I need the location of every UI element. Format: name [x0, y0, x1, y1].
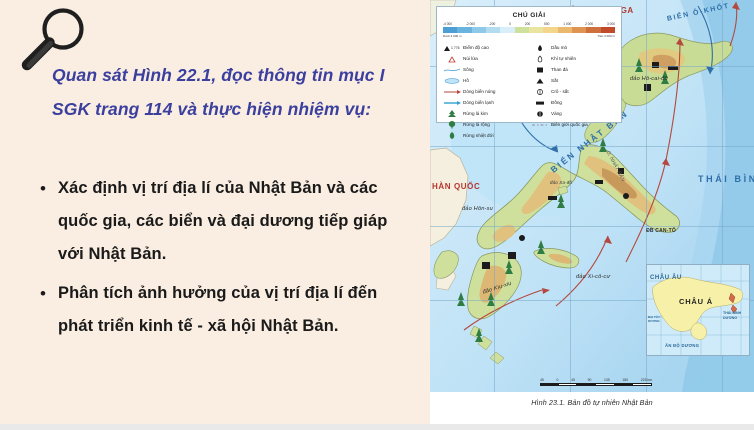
legend-item: Đồng [529, 97, 617, 108]
elev-tick: 2 000 [585, 22, 593, 26]
legend-item: Crô - sắt [529, 86, 617, 97]
elev-tick: -200 [489, 22, 495, 26]
bullet-text: Xác định vị trí địa lí của Nhật Bản và c… [58, 172, 410, 271]
river-icon [441, 66, 463, 74]
intro-paragraph: Quan sát Hình 22.1, đọc thông tin mục I … [52, 58, 412, 126]
scale-tick: 225 km [641, 378, 652, 382]
japan-physical-map: LIÊN BANG NGA HÀN QUỐC BIỂN NHẬT BẢN BIỂ… [430, 0, 754, 392]
legend-columns: 1 776 Điểm độ cao Núi lửa [441, 42, 617, 141]
inset-label-atlantic: ĐẠI TÂY DƯƠNG [648, 315, 662, 323]
left-text-panel: Quan sát Hình 22.1, đọc thông tin mục I … [0, 0, 430, 424]
broadleaf-forest-icon [441, 120, 463, 129]
legend-item: Núi lửa [441, 53, 529, 64]
legend-column-left: 1 776 Điểm độ cao Núi lửa [441, 42, 529, 141]
scale-left-note: Dưới 4 000 m [443, 34, 461, 38]
legend-label: Crô - sắt [551, 89, 569, 94]
legend-label: Khí tự nhiên [551, 56, 576, 61]
svg-text:1 776: 1 776 [451, 46, 460, 50]
legend-label: Sông [463, 67, 474, 72]
inset-label-indian: ẤN ĐỘ DƯƠNG [665, 343, 699, 348]
legend-item: 1 776 Điểm độ cao [441, 42, 529, 53]
legend-item: Hồ [441, 75, 529, 86]
legend-label: Dòng biển nóng [463, 89, 495, 94]
scale-tick: 0 [556, 378, 558, 382]
border-icon [529, 121, 551, 129]
elev-tick: 200 [525, 22, 530, 26]
legend-item: Dầu mỏ [529, 42, 617, 53]
bullet-marker: • [40, 172, 58, 271]
graticule-line [430, 146, 754, 147]
oil-icon [529, 44, 551, 52]
slide-root: Quan sát Hình 22.1, đọc thông tin mục I … [0, 0, 754, 430]
legend-item: Dòng biển lạnh [441, 97, 529, 108]
scale-tick: 180 [622, 378, 628, 382]
legend-label: Điểm độ cao [463, 45, 489, 50]
legend-label: Biên giới quốc gia [551, 122, 588, 127]
gas-icon [529, 55, 551, 63]
iron-icon [529, 77, 551, 85]
legend-item: Sắt [529, 75, 617, 86]
inset-label-pacific: THÁI BÌNH DƯƠNG [723, 311, 747, 321]
tropical-forest-icon [441, 131, 463, 140]
scale-tick: 135 [604, 378, 610, 382]
legend-label: Vàng [551, 111, 562, 116]
legend-item: Rừng lá rộng [441, 119, 529, 130]
legend-label: Sắt [551, 78, 558, 83]
map-panel: LIÊN BANG NGA HÀN QUỐC BIỂN NHẬT BẢN BIỂ… [430, 0, 754, 424]
legend-item: Dòng biển nóng [441, 86, 529, 97]
legend-label: Núi lửa [463, 56, 478, 61]
elevation-color-bar [443, 27, 615, 33]
legend-item: Rừng lá kim [441, 108, 529, 119]
legend-label: Đồng [551, 100, 562, 105]
legend-label: Rừng lá rộng [463, 122, 490, 127]
conifer-forest-icon [441, 109, 463, 118]
bottom-strip [0, 424, 754, 430]
list-item: • Xác định vị trí địa lí của Nhật Bản và… [40, 172, 432, 271]
scale-tick: 45 [540, 378, 544, 382]
scale-right-note: Trên 3 000 m [597, 34, 615, 38]
map-scale-bar: 45 0 45 90 135 180 225 km [540, 378, 652, 386]
legend-label: Rừng lá kim [463, 111, 488, 116]
legend-label: Dầu mỏ [551, 45, 567, 50]
elev-tick: 500 [544, 22, 549, 26]
legend-item: Than đá [529, 64, 617, 75]
inset-label-asia: CHÂU Á [679, 297, 713, 306]
scale-tick: 90 [588, 378, 592, 382]
elev-tick: 1 000 [563, 22, 571, 26]
elev-tick: 0 [509, 22, 511, 26]
peak-icon: 1 776 [441, 44, 463, 52]
locator-inset-map: CHÂU ÂU CHÂU Á THÁI BÌNH DƯƠNG ẤN ĐỘ DƯƠ… [646, 264, 750, 356]
legend-label: Than đá [551, 67, 568, 72]
inset-label-europe: CHÂU ÂU [650, 275, 682, 281]
cold-current-icon [441, 99, 463, 107]
volcano-icon [441, 55, 463, 63]
elev-tick: -4 000 [443, 22, 452, 26]
figure-caption: Hình 23.1. Bản đồ tự nhiên Nhật Bản [430, 398, 754, 407]
legend-label: Dòng biển lạnh [463, 100, 494, 105]
scale-tick: 45 [571, 378, 575, 382]
elev-tick: 3 000 [607, 22, 615, 26]
legend-item: Khí tự nhiên [529, 53, 617, 64]
scale-tick-labels: 45 0 45 90 135 180 225 km [540, 378, 652, 382]
coal-icon [529, 66, 551, 74]
legend-item: Vàng [529, 108, 617, 119]
legend-title: CHÚ GIẢI [441, 12, 617, 19]
legend-item: Sông [441, 64, 529, 75]
bullet-marker: • [40, 277, 58, 343]
legend-label: Rừng nhiệt đới [463, 133, 494, 138]
elevation-scale-footnotes: Dưới 4 000 m Trên 3 000 m [441, 34, 617, 38]
legend-column-right: Dầu mỏ Khí tự nhiên Than đ [529, 42, 617, 141]
warm-current-icon [441, 88, 463, 96]
list-item: • Phân tích ảnh hưởng của vị trí địa lí … [40, 277, 432, 343]
legend-item: Biên giới quốc gia [529, 119, 617, 130]
graticule-line [430, 226, 754, 227]
lake-icon [441, 77, 463, 85]
task-bullet-list: • Xác định vị trí địa lí của Nhật Bản và… [40, 172, 432, 349]
elev-tick: -2 000 [466, 22, 475, 26]
chromium-icon [529, 88, 551, 96]
bullet-text: Phân tích ảnh hưởng của vị trí địa lí đế… [58, 277, 410, 343]
gold-icon [529, 110, 551, 118]
copper-icon [529, 99, 551, 107]
legend-item: Rừng nhiệt đới [441, 130, 529, 141]
elevation-tick-labels: -4 000 -2 000 -200 0 200 500 1 000 2 000… [441, 22, 617, 26]
legend-label: Hồ [463, 78, 469, 83]
map-legend: CHÚ GIẢI -4 000 -2 000 -200 0 200 500 1 … [436, 6, 622, 123]
scale-bar-segments [540, 383, 652, 386]
